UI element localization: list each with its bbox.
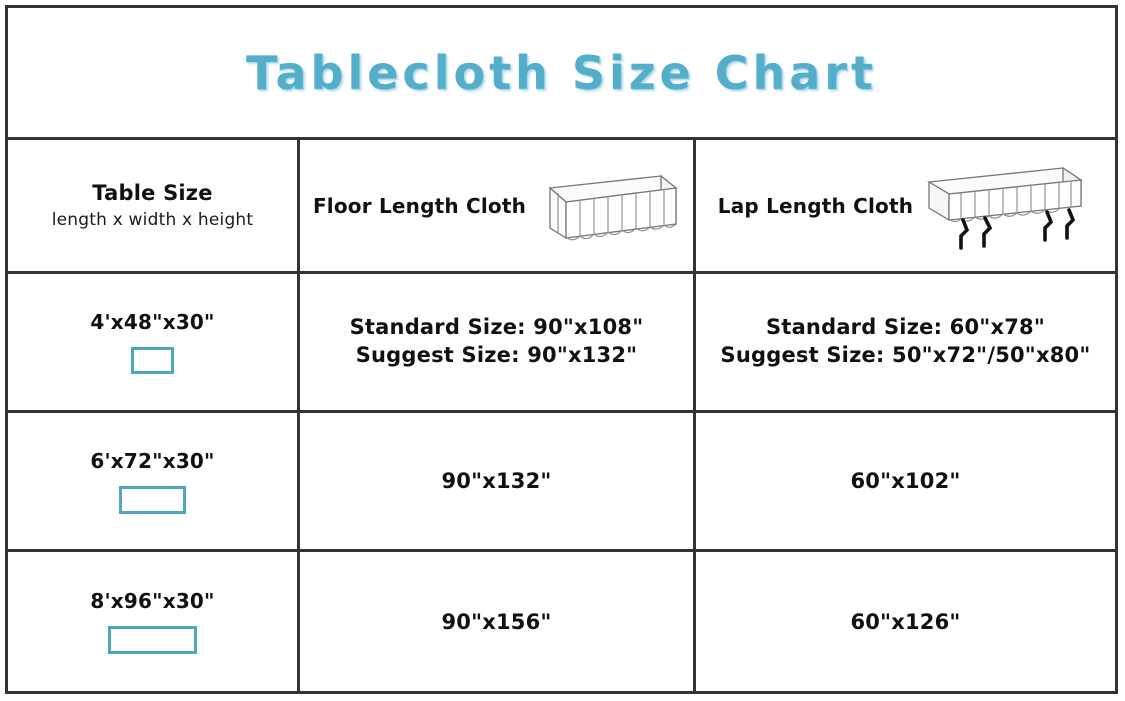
table-row: 4'x48"x30" Standard Size: 90"x108" Sugge…: [8, 274, 1115, 413]
cell-lap-length: Standard Size: 60"x78" Suggest Size: 50"…: [696, 274, 1115, 410]
floor-length-heading: Floor Length Cloth: [308, 166, 685, 246]
header-cell-table-size: Table Size length x width x height: [8, 140, 300, 271]
size-table: Table Size length x width x height Floor…: [8, 140, 1115, 691]
table-row: 8'x96"x30" 90"x156" 60"x126": [8, 552, 1115, 691]
floor-length-value: 90"x156": [441, 610, 551, 634]
cell-table-size: 8'x96"x30": [8, 552, 300, 691]
floor-length-values: Standard Size: 90"x108" Suggest Size: 90…: [350, 314, 644, 369]
tablecloth-size-chart: Tablecloth Size Chart Table Size length …: [5, 5, 1118, 694]
table-size-figure: 6'x72"x30": [90, 449, 214, 514]
cell-lap-length: 60"x126": [696, 552, 1115, 691]
table-size-value: 4'x48"x30": [90, 310, 214, 334]
cell-lap-length: 60"x102": [696, 413, 1115, 549]
lap-length-heading: Lap Length Cloth: [704, 160, 1107, 252]
cell-floor-length: 90"x156": [300, 552, 696, 691]
header-cell-floor-length: Floor Length Cloth: [300, 140, 696, 271]
table-shape-rect: [131, 347, 174, 374]
table-size-title: Table Size: [92, 180, 212, 206]
standard-size-line: Standard Size: 90"x108": [350, 314, 644, 342]
table-size-figure: 4'x48"x30": [90, 310, 214, 374]
suggest-size-line: Suggest Size: 90"x132": [356, 342, 638, 370]
cell-table-size: 6'x72"x30": [8, 413, 300, 549]
floor-length-label: Floor Length Cloth: [313, 194, 526, 218]
lap-length-value: 60"x102": [850, 469, 960, 493]
floor-length-tablecloth-icon: [528, 166, 680, 246]
table-shape-rect: [119, 486, 186, 514]
lap-length-value: 60"x126": [850, 610, 960, 634]
table-row: 6'x72"x30" 90"x132" 60"x102": [8, 413, 1115, 552]
lap-length-values: Standard Size: 60"x78" Suggest Size: 50"…: [721, 314, 1091, 369]
suggest-size-line: Suggest Size: 50"x72"/50"x80": [721, 342, 1091, 370]
table-size-figure: 8'x96"x30": [90, 589, 214, 654]
header-cell-lap-length: Lap Length Cloth: [696, 140, 1115, 271]
table-size-subtitle: length x width x height: [52, 210, 254, 231]
cell-table-size: 4'x48"x30": [8, 274, 300, 410]
table-size-value: 8'x96"x30": [90, 589, 214, 613]
table-size-heading: Table Size length x width x height: [52, 180, 254, 231]
cell-floor-length: 90"x132": [300, 413, 696, 549]
title-row: Tablecloth Size Chart: [8, 8, 1115, 140]
standard-size-line: Standard Size: 60"x78": [766, 314, 1045, 342]
table-size-value: 6'x72"x30": [90, 449, 214, 473]
floor-length-value: 90"x132": [441, 469, 551, 493]
table-shape-rect: [108, 626, 197, 654]
lap-length-label: Lap Length Cloth: [718, 194, 913, 218]
lap-length-tablecloth-icon: [915, 160, 1093, 252]
cell-floor-length: Standard Size: 90"x108" Suggest Size: 90…: [300, 274, 696, 410]
table-header-row: Table Size length x width x height Floor…: [8, 140, 1115, 274]
chart-title: Tablecloth Size Chart: [246, 46, 877, 100]
